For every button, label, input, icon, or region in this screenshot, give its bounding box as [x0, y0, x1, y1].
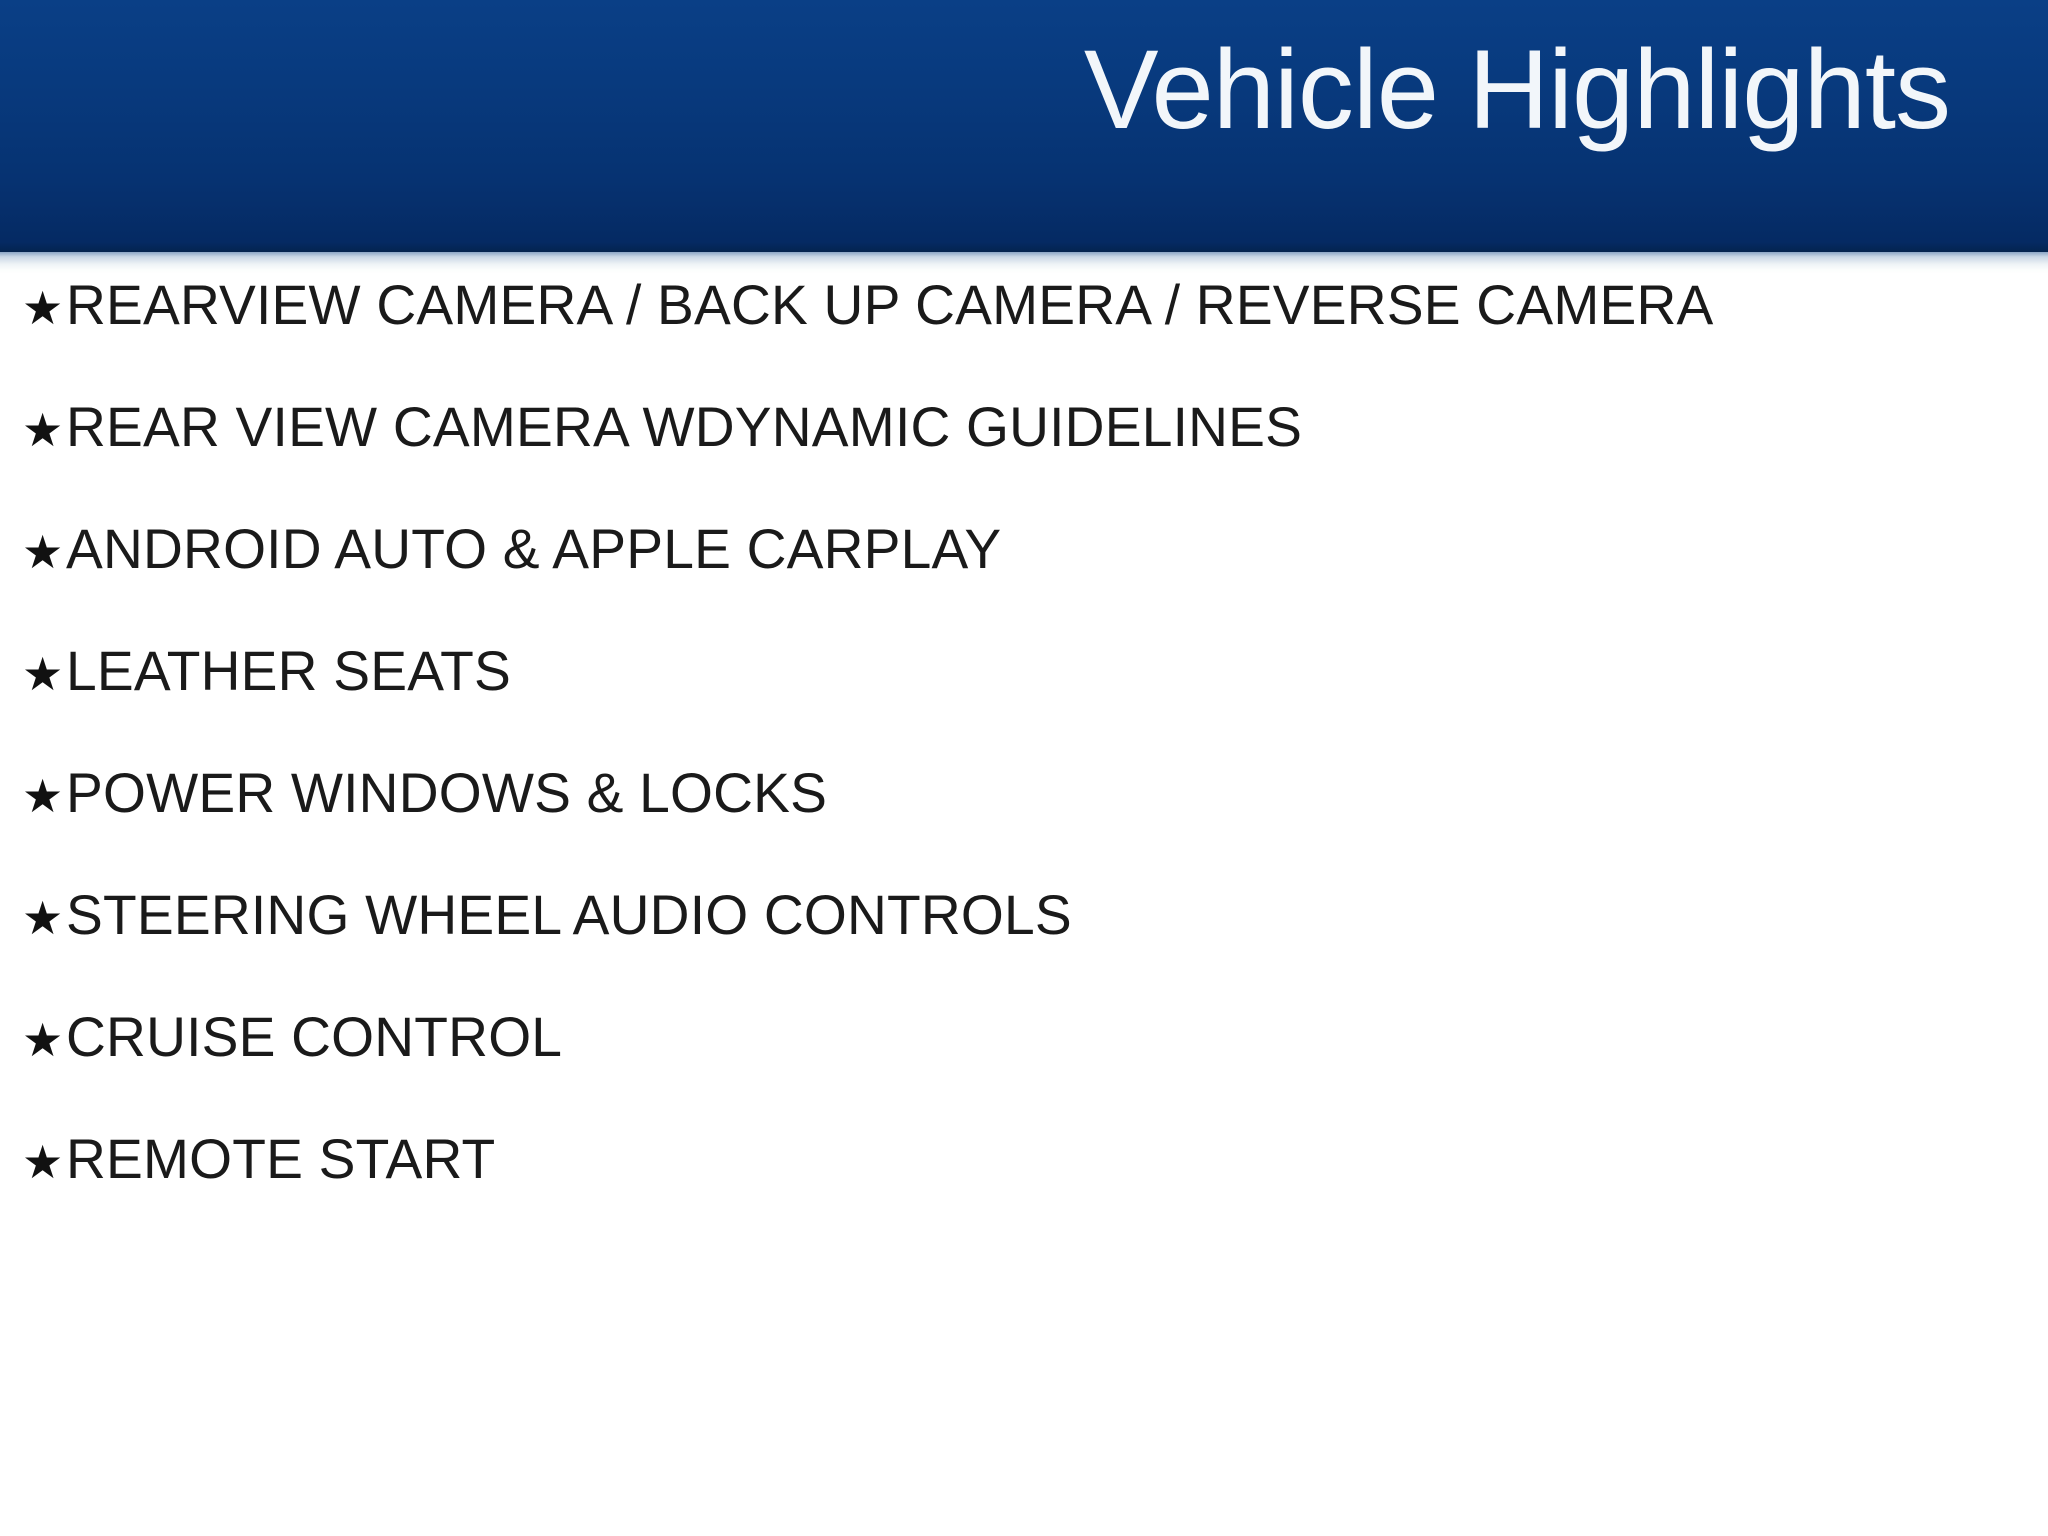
list-item: ★ REMOTE START [0, 1128, 2048, 1250]
highlight-label: REARVIEW CAMERA / BACK UP CAMERA / REVER… [66, 274, 1713, 336]
highlight-label: LEATHER SEATS [66, 640, 511, 702]
highlight-label: REMOTE START [66, 1128, 495, 1190]
star-icon: ★ [22, 895, 66, 941]
star-icon: ★ [22, 407, 66, 453]
vehicle-highlights-list: ★ REARVIEW CAMERA / BACK UP CAMERA / REV… [0, 274, 2048, 1250]
highlight-label: REAR VIEW CAMERA WDYNAMIC GUIDELINES [66, 396, 1302, 458]
list-item: ★ REARVIEW CAMERA / BACK UP CAMERA / REV… [0, 274, 2048, 396]
vehicle-highlights-page: Vehicle Highlights ★ REARVIEW CAMERA / B… [0, 0, 2048, 1536]
highlight-label: STEERING WHEEL AUDIO CONTROLS [66, 884, 1072, 946]
star-icon: ★ [22, 285, 66, 331]
star-icon: ★ [22, 529, 66, 575]
list-item: ★ REAR VIEW CAMERA WDYNAMIC GUIDELINES [0, 396, 2048, 518]
list-item: ★ STEERING WHEEL AUDIO CONTROLS [0, 884, 2048, 1006]
star-icon: ★ [22, 773, 66, 819]
list-item: ★ CRUISE CONTROL [0, 1006, 2048, 1128]
list-item: ★ LEATHER SEATS [0, 640, 2048, 762]
star-icon: ★ [22, 1017, 66, 1063]
page-title: Vehicle Highlights [1084, 28, 1950, 152]
highlight-label: ANDROID AUTO & APPLE CARPLAY [66, 518, 1001, 580]
header-fade-divider [0, 252, 2048, 274]
highlight-label: POWER WINDOWS & LOCKS [66, 762, 827, 824]
list-item: ★ POWER WINDOWS & LOCKS [0, 762, 2048, 884]
header-band: Vehicle Highlights [0, 0, 2048, 252]
star-icon: ★ [22, 651, 66, 697]
highlight-label: CRUISE CONTROL [66, 1006, 562, 1068]
star-icon: ★ [22, 1139, 66, 1185]
list-item: ★ ANDROID AUTO & APPLE CARPLAY [0, 518, 2048, 640]
